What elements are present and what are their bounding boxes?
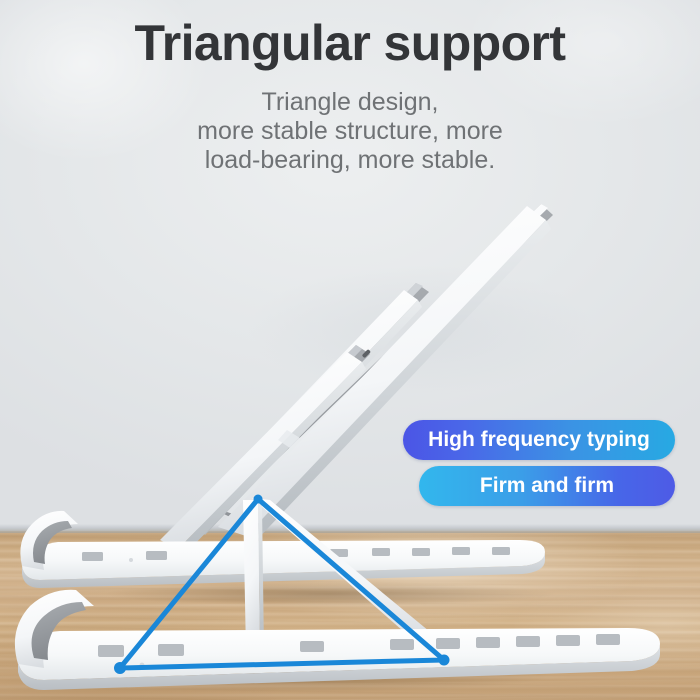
subtitle-line-3: load-bearing, more stable. — [0, 146, 700, 175]
feature-badge-firm-and-firm: Firm and firm — [419, 466, 675, 506]
feature-badge-label: Firm and firm — [480, 474, 614, 498]
rear-rail-pivot-screw — [129, 558, 133, 562]
page-title: Triangular support — [0, 14, 700, 72]
subtitle: Triangle design, more stable structure, … — [0, 88, 700, 175]
triangle-vertex-right-dot — [439, 655, 450, 666]
triangle-vertex-left-dot — [114, 662, 126, 674]
product-marketing-poster: Triangular support Triangle design, more… — [0, 0, 700, 700]
subtitle-line-1: Triangle design, — [0, 88, 700, 117]
subtitle-line-2: more stable structure, more — [0, 117, 700, 146]
front-leg — [243, 500, 264, 652]
triangle-vertex-apex-dot — [254, 495, 263, 504]
feature-badge-label: High frequency typing — [428, 428, 650, 452]
feature-badge-high-frequency-typing: High frequency typing — [403, 420, 675, 460]
